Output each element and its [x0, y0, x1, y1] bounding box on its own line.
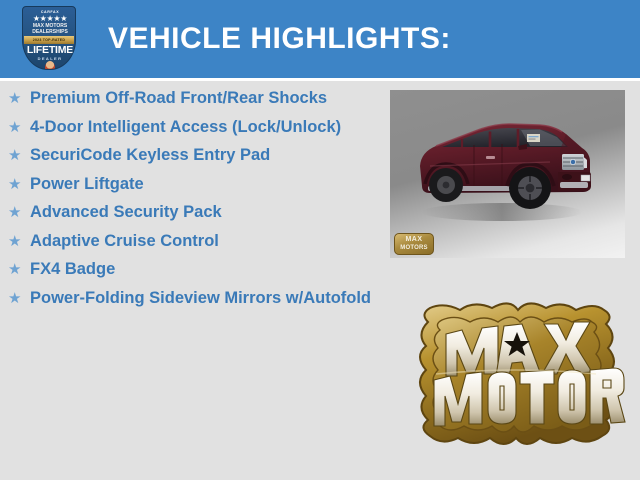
list-item-label: Power Liftgate: [30, 174, 378, 196]
carfax-lifetime-dealer-badge: CARFAX ★★★★★ MAX MOTORS DEALERSHIPS 2023…: [22, 6, 76, 76]
five-stars-icon: ★★★★★: [23, 15, 76, 23]
star-bullet-icon: ★: [8, 88, 30, 109]
list-item-label: 4-Door Intelligent Access (Lock/Unlock): [30, 117, 378, 139]
badge-shield-shape: CARFAX ★★★★★ MAX MOTORS DEALERSHIPS 2023…: [22, 6, 76, 70]
badge-award-year: 2023 TOP-RATED: [33, 38, 65, 42]
list-item-label: Power-Folding Sideview Mirrors w/Autofol…: [30, 288, 378, 310]
list-item: ★ Premium Off-Road Front/Rear Shocks: [0, 88, 378, 110]
list-item: ★ FX4 Badge: [0, 259, 378, 281]
header-divider: [0, 78, 640, 81]
max-motors-buckle-illustration: [400, 296, 632, 452]
star-bullet-icon: ★: [8, 174, 30, 195]
star-bullet-icon: ★: [8, 259, 30, 280]
star-bullet-icon: ★: [8, 117, 30, 138]
front-wheel: [509, 167, 551, 209]
badge-mascot-icon: [45, 61, 55, 70]
badge-award-label: LIFETIME: [23, 45, 76, 56]
list-item: ★ Adaptive Cruise Control: [0, 231, 378, 253]
vehicle-highlights-slide: CARFAX ★★★★★ MAX MOTORS DEALERSHIPS 2023…: [0, 0, 640, 480]
photo-watermark-logo: MAX MOTORS: [394, 233, 434, 255]
list-item-label: Advanced Security Pack: [30, 202, 378, 224]
star-bullet-icon: ★: [8, 145, 30, 166]
list-item: ★ SecuriCode Keyless Entry Pad: [0, 145, 378, 167]
vehicle-highlights-list: ★ Premium Off-Road Front/Rear Shocks ★ 4…: [0, 88, 378, 316]
watermark-line-2: MOTORS: [400, 244, 427, 252]
rear-wheel: [429, 168, 463, 202]
watermark-buckle-shape: MAX MOTORS: [394, 233, 434, 255]
watermark-line-1: MAX: [405, 236, 422, 244]
star-bullet-icon: ★: [8, 202, 30, 223]
badge-award-band: 2023 TOP-RATED: [24, 36, 74, 44]
page-title: VEHICLE HIGHLIGHTS:: [108, 22, 451, 56]
list-item: ★ Advanced Security Pack: [0, 202, 378, 224]
star-bullet-icon: ★: [8, 231, 30, 252]
list-item-label: SecuriCode Keyless Entry Pad: [30, 145, 378, 167]
list-item-label: Adaptive Cruise Control: [30, 231, 378, 253]
skid-plate: [560, 182, 588, 188]
list-item: ★ 4-Door Intelligent Access (Lock/Unlock…: [0, 117, 378, 139]
list-item-label: FX4 Badge: [30, 259, 378, 281]
vehicle-photo: MAX MOTORS: [390, 90, 625, 258]
list-item: ★ Power-Folding Sideview Mirrors w/Autof…: [0, 288, 378, 310]
list-item: ★ Power Liftgate: [0, 174, 378, 196]
list-item-label: Premium Off-Road Front/Rear Shocks: [30, 88, 378, 110]
max-motors-logo: [400, 296, 632, 452]
star-bullet-icon: ★: [8, 288, 30, 309]
badge-dealer-name: MAX MOTORS DEALERSHIPS: [26, 24, 74, 35]
